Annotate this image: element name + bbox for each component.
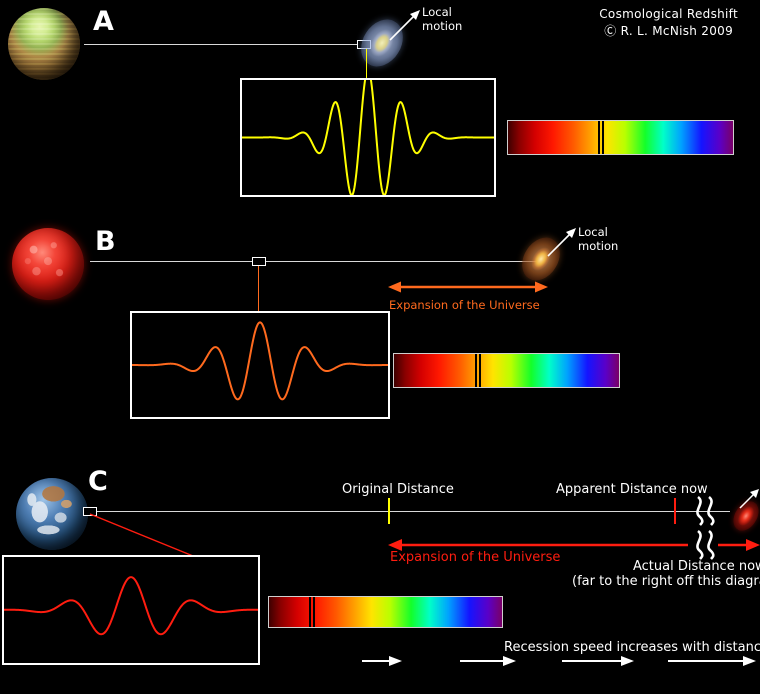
panel-b-expansion-label: Expansion of the Universe <box>389 298 540 312</box>
panel-a-waveform <box>242 80 494 195</box>
title-line-1: Cosmological Redshift <box>599 6 738 23</box>
panel-c-spectrum <box>268 596 503 628</box>
panel-b-absorption-line-2 <box>479 354 481 387</box>
panel-c-original-distance-tick <box>388 498 390 524</box>
panel-c-actual-distance-label-2: (far to the right off this diagram) <box>572 573 760 590</box>
panel-c-apparent-distance-tick <box>674 498 676 524</box>
panel-a-absorption-line-2 <box>602 121 604 154</box>
panel-c-letter: C <box>88 468 108 495</box>
panel-c-leader-line <box>90 514 200 559</box>
panel-b-sight-line <box>90 261 540 262</box>
diagram-canvas: Cosmological Redshift Ⓒ R. L. McNish 200… <box>0 0 760 694</box>
panel-c-absorption-line-2 <box>313 597 315 627</box>
panel-c-expansion-arrow-right <box>718 538 760 552</box>
panel-c-wave-box <box>2 555 260 665</box>
panel-c-recession-label: Recession speed increases with distance. <box>504 639 760 656</box>
panel-a-planet <box>8 8 80 80</box>
panel-c-apparent-distance-label: Apparent Distance now <box>556 481 708 498</box>
recession-arrow-2 <box>460 655 516 667</box>
panel-c-earth <box>16 478 88 550</box>
panel-b-star <box>12 228 84 300</box>
panel-b-local-motion-arrow <box>546 226 578 258</box>
panel-c-break-squiggle-top <box>692 495 720 527</box>
title-line-2: Ⓒ R. L. McNish 2009 <box>599 23 738 40</box>
panel-b-spectrum <box>393 353 620 388</box>
panel-c-local-motion-arrow <box>738 488 760 510</box>
panel-a-spectrum <box>507 120 734 155</box>
panel-c-break-squiggle-bottom <box>692 529 720 561</box>
panel-b-wave-box <box>130 311 390 419</box>
panel-c-absorption-line-1 <box>309 597 311 627</box>
panel-a-leader-line <box>366 49 367 78</box>
panel-b-absorption-line-1 <box>475 354 477 387</box>
panel-c-original-distance-label: Original Distance <box>342 481 454 498</box>
panel-b-local-motion-label: Local motion <box>578 225 618 253</box>
panel-a-sight-line <box>84 44 368 45</box>
panel-b-waveform <box>132 313 388 417</box>
panel-c-expansion-label: Expansion of the Universe <box>390 549 560 566</box>
panel-a-absorption-line-1 <box>598 121 600 154</box>
panel-a-local-motion-arrow <box>388 8 422 42</box>
panel-a-letter: A <box>93 8 114 35</box>
panel-a-wave-box <box>240 78 496 197</box>
recession-arrow-1 <box>362 655 402 667</box>
panel-b-wave-marker <box>252 257 266 266</box>
recession-arrow-3 <box>562 655 634 667</box>
title-block: Cosmological Redshift Ⓒ R. L. McNish 200… <box>599 6 738 40</box>
panel-c-sight-line <box>86 511 730 512</box>
panel-a-local-motion-label: Local motion <box>422 5 462 33</box>
panel-b-expansion-arrow <box>388 280 548 294</box>
panel-b-letter: B <box>95 228 116 255</box>
panel-b-leader-line <box>258 266 259 311</box>
panel-c-waveform <box>4 557 258 663</box>
recession-arrow-4 <box>668 655 756 667</box>
